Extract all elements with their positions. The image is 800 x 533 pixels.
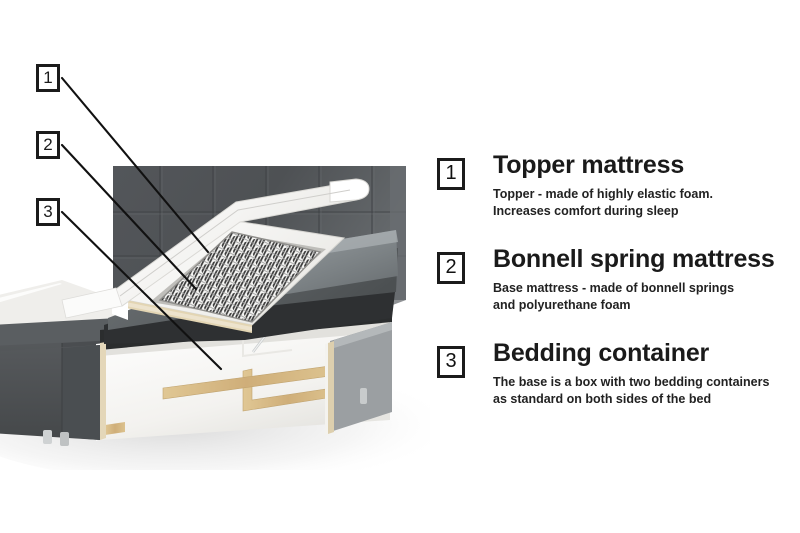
legend-title-3: Bedding container [493, 338, 797, 368]
legend-item-bedding-container[interactable]: 3 Bedding container The base is a box wi… [437, 338, 797, 408]
legend-item-bonnell-spring-mattress[interactable]: 2 Bonnell spring mattress Base mattress … [437, 244, 797, 314]
product-illustration: 1 2 3 [0, 0, 430, 470]
legend-text-2: Bonnell spring mattress Base mattress - … [465, 244, 797, 314]
infographic-page: 1 2 3 1 Topper mattress Topper - made of… [0, 0, 800, 533]
legend-number-3: 3 [437, 346, 465, 378]
legend-item-topper-mattress[interactable]: 1 Topper mattress Topper - made of highl… [437, 150, 797, 220]
boxspring-bed-illustration [0, 0, 430, 470]
legend-number-1: 1 [437, 158, 465, 190]
legend-desc-2: Base mattress - made of bonnell springs … [493, 280, 797, 314]
callout-badge-1[interactable]: 1 [36, 64, 60, 92]
legend-title-2: Bonnell spring mattress [493, 244, 797, 274]
legend-desc-3-line1: The base is a box with two bedding conta… [493, 374, 797, 391]
legend-desc-2-line2: and polyurethane foam [493, 297, 797, 314]
legend-title-1: Topper mattress [493, 150, 797, 180]
legend-desc-3: The base is a box with two bedding conta… [493, 374, 797, 408]
legend-panel: 1 Topper mattress Topper - made of highl… [437, 150, 797, 432]
callout-badge-2[interactable]: 2 [36, 131, 60, 159]
legend-desc-1-line1: Topper - made of highly elastic foam. [493, 186, 797, 203]
legend-text-1: Topper mattress Topper - made of highly … [465, 150, 797, 220]
legend-desc-3-line2: as standard on both sides of the bed [493, 391, 797, 408]
legend-number-2: 2 [437, 252, 465, 284]
legend-desc-1: Topper - made of highly elastic foam. In… [493, 186, 797, 220]
legend-text-3: Bedding container The base is a box with… [465, 338, 797, 408]
legend-desc-2-line1: Base mattress - made of bonnell springs [493, 280, 797, 297]
callout-badge-3[interactable]: 3 [36, 198, 60, 226]
legend-desc-1-line2: Increases comfort during sleep [493, 203, 797, 220]
